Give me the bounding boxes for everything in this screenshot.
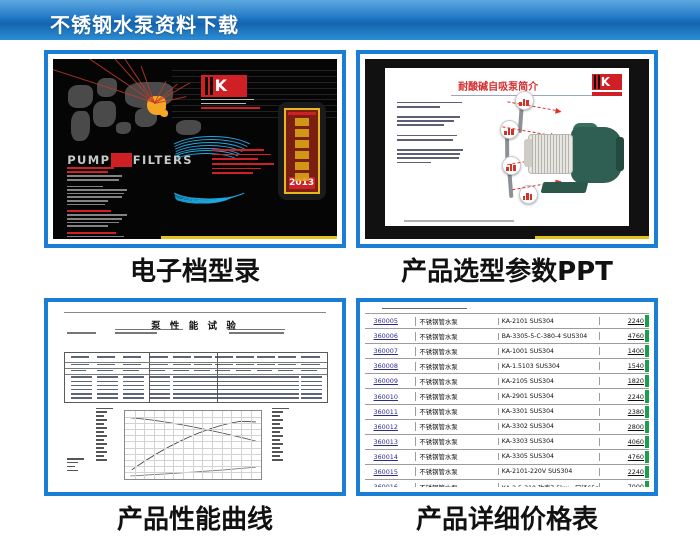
- card-performance-curve[interactable]: 泵 性 能 试 验: [40, 298, 350, 548]
- product-line: [212, 154, 271, 156]
- model-cell: KA-2.5-310 功率7.5kw、口径65mm: [498, 483, 599, 487]
- slogan-line: [201, 107, 260, 109]
- motor-fin: [541, 135, 542, 174]
- thumbnail-content: 泵 性 能 试 验: [53, 307, 337, 487]
- badge-glyph: [295, 129, 309, 137]
- grid-line: [125, 454, 261, 455]
- axis-tick: [96, 419, 107, 420]
- continent-shape: [176, 120, 201, 136]
- text-line: [397, 120, 454, 122]
- axis-tick: [272, 435, 283, 436]
- table-subheader-text: [71, 364, 89, 366]
- table-header-text: [278, 356, 296, 358]
- table-cell-text: [236, 389, 257, 391]
- text-line: [397, 116, 460, 118]
- table-row[interactable]: 360014不锈钢管水泵KA-3305 SUS3044760: [365, 450, 649, 465]
- page-root: 不锈钢水泵资料下载 PUMPKFILTERS: [0, 0, 700, 552]
- brand-text-left: PUMP: [67, 153, 110, 167]
- table-header-text: [149, 356, 167, 358]
- row-marker: [645, 406, 649, 418]
- doc-top-rule: [64, 312, 325, 313]
- table-row[interactable]: 360006不锈钢管水泵BA-3305-5-C-380-4 SUS3044760: [365, 329, 649, 344]
- doc-meta-left: [67, 332, 95, 336]
- text-line: [67, 218, 122, 220]
- china-highlight: [160, 110, 168, 118]
- table-unit-text: [215, 370, 231, 372]
- row-marker: [645, 360, 649, 372]
- price-cell: 4060: [599, 438, 649, 446]
- continent-shape: [116, 122, 132, 134]
- table-header-text: [123, 356, 141, 358]
- table-cell-text: [236, 376, 257, 378]
- table-header-text: [71, 356, 89, 358]
- ppt-slide-image: 耐酸碱自吸泵简介 K: [365, 59, 649, 239]
- price-table-image: 360005不锈钢管水泵KA-2101 SUS3042240360006不锈钢管…: [365, 307, 649, 487]
- row-marker: [645, 330, 649, 342]
- name-cell: 不锈钢管水泵: [415, 452, 497, 461]
- axis-tick: [96, 459, 107, 460]
- text-line: [397, 102, 461, 104]
- code-cell: 360012: [365, 423, 415, 431]
- badge-inner: 2013: [284, 108, 320, 194]
- table-row[interactable]: 360010不锈钢管水泵KA-2901 SUS3042240: [365, 389, 649, 404]
- grid-line: [154, 411, 155, 479]
- table-unit-text: [257, 370, 273, 372]
- table-unit-text: [71, 370, 87, 372]
- motor-fin: [565, 135, 566, 174]
- text-line: [67, 193, 124, 195]
- table-rule: [65, 368, 327, 369]
- table-cell-text: [71, 393, 92, 395]
- table-cell-text: [301, 376, 322, 378]
- table-cell-text: [149, 393, 170, 395]
- grid-line: [125, 448, 261, 449]
- wave-arc: [172, 188, 231, 204]
- table-cell-text: [301, 393, 322, 395]
- table-cell-text: [215, 385, 236, 387]
- text-line: [67, 210, 111, 212]
- table-subheader-text: [123, 364, 141, 366]
- table-cell-text: [215, 397, 236, 399]
- code-cell: 360010: [365, 393, 415, 401]
- model-cell: KA-2101-220V SUS304: [498, 468, 599, 475]
- table-cell-text: [97, 385, 118, 387]
- table-cell-text: [97, 381, 118, 383]
- table-clipped-header: [365, 307, 649, 314]
- thumbnail-grid: PUMPKFILTERS K 2: [0, 40, 700, 552]
- table-cell-text: [173, 389, 194, 391]
- meta-line: [115, 332, 156, 334]
- text-line: [67, 179, 119, 181]
- table-cell-text: [97, 376, 118, 378]
- price-cell: 2240: [599, 468, 649, 476]
- table-row[interactable]: 360013不锈钢管水泵KA-3303 SUS3044060: [365, 435, 649, 450]
- motor-fin: [538, 135, 539, 174]
- name-cell: 不锈钢管水泵: [415, 317, 497, 326]
- code-cell: 360014: [365, 453, 415, 461]
- grid-line: [125, 472, 261, 473]
- table-subheader-text: [173, 364, 191, 366]
- row-marker: [645, 345, 649, 357]
- axis-tick: [67, 462, 78, 463]
- table-cell-text: [173, 397, 194, 399]
- grid-line: [173, 411, 174, 479]
- table-header-text: [236, 356, 254, 358]
- grid-line: [125, 429, 261, 430]
- table-cell-text: [278, 381, 299, 383]
- price-cell: 2800: [599, 423, 649, 431]
- slide-canvas: 耐酸碱自吸泵简介 K: [385, 68, 629, 226]
- table-header-text: [215, 356, 233, 358]
- grid-line: [241, 411, 242, 479]
- table-cell-text: [97, 389, 118, 391]
- k-logo-letter: K: [215, 77, 227, 95]
- table-subheader-text: [236, 364, 254, 366]
- table-cell-text: [278, 393, 299, 395]
- bar-chart-icon: [504, 131, 507, 135]
- product-line: [212, 168, 261, 170]
- continent-shape: [93, 101, 115, 127]
- axis-tick: [96, 411, 107, 412]
- axis-label: [96, 408, 113, 409]
- grid-line: [135, 411, 136, 479]
- grid-line: [125, 435, 261, 436]
- card-caption: 产品性能曲线: [40, 506, 350, 535]
- table-subheader-text: [194, 364, 212, 366]
- row-marker: [645, 466, 649, 478]
- bar-chart-icon: [523, 196, 526, 200]
- axis-tick: [96, 443, 107, 444]
- slogan-line: [201, 99, 254, 101]
- product-list-lines: [212, 149, 286, 177]
- axis-tick: [96, 431, 104, 432]
- table-cell-text: [194, 385, 215, 387]
- row-marker: [645, 315, 649, 327]
- table-cell-text: [173, 385, 194, 387]
- table-subheader-text: [149, 364, 167, 366]
- text-line: [397, 124, 444, 126]
- row-marker: [645, 390, 649, 402]
- table-subheader-text: [278, 364, 296, 366]
- motor-fin: [547, 135, 548, 174]
- code-cell: 360013: [365, 438, 415, 446]
- table-cell-text: [236, 393, 257, 395]
- price-cell: 2380: [599, 408, 649, 416]
- model-cell: KA-3303 SUS304: [498, 438, 599, 445]
- table-cell-text: [215, 381, 236, 383]
- axis-tick: [272, 443, 283, 444]
- axis-tick: [96, 427, 107, 428]
- price-cell: 1540: [599, 362, 649, 370]
- table-cell-text: [278, 376, 299, 378]
- motor-fin: [550, 135, 551, 174]
- table-row[interactable]: 360008不锈钢管水泵KA-1.5103 SUS3041540: [365, 359, 649, 374]
- catalog-cover-image: PUMPKFILTERS K 2: [53, 59, 337, 239]
- code-cell: 360011: [365, 408, 415, 416]
- bar-chart-icon: [513, 165, 516, 171]
- card-caption: 产品详细价格表: [352, 506, 662, 535]
- axis-tick: [96, 447, 104, 448]
- meta-line: [229, 329, 285, 331]
- table-cell-text: [236, 397, 257, 399]
- name-cell: 不锈钢管水泵: [415, 362, 497, 371]
- table-cell-text: [149, 376, 170, 378]
- code-cell: 360005: [365, 317, 415, 325]
- table-cell-text: [257, 389, 278, 391]
- row-marker: [645, 421, 649, 433]
- code-cell: 360016: [365, 483, 415, 487]
- text-line: [397, 149, 463, 151]
- table-row[interactable]: 360011不锈钢管水泵KA-3301 SUS3042380: [365, 405, 649, 420]
- axis-tick: [96, 439, 104, 440]
- continent-shape: [71, 111, 90, 140]
- axis-left-scale: [96, 408, 116, 463]
- slide-yellow-bar: [535, 236, 649, 239]
- model-cell: KA-2101 SUS304: [498, 318, 599, 325]
- row-marker: [645, 436, 649, 448]
- axis-label: [67, 458, 84, 459]
- table-rule: [65, 362, 327, 363]
- text-line: [67, 225, 108, 227]
- doc-meta-right: [229, 329, 320, 337]
- motor-fin: [532, 135, 533, 174]
- table-cell-text: [173, 381, 194, 383]
- axis-tick: [272, 427, 283, 428]
- text-line: [397, 106, 439, 108]
- text-line: [397, 162, 431, 164]
- bar-chart-icon: [511, 129, 514, 135]
- table-cell-text: [123, 376, 144, 378]
- bar-chart-icon: [508, 128, 511, 135]
- card-caption: 电子档型录: [40, 258, 350, 287]
- table-row[interactable]: 360016不锈钢管水泵KA-2.5-310 功率7.5kw、口径65mm700…: [365, 480, 649, 487]
- text-line: [397, 153, 460, 155]
- table-cell-text: [123, 385, 144, 387]
- text-line: [67, 236, 124, 238]
- text-line: [67, 214, 127, 216]
- table-header-text: [194, 356, 212, 358]
- name-cell: 不锈钢管水泵: [415, 437, 497, 446]
- table-header-text: [97, 356, 115, 358]
- price-table-body: 360005不锈钢管水泵KA-2101 SUS3042240360006不锈钢管…: [365, 314, 649, 487]
- table-cell-text: [301, 381, 322, 383]
- table-cell-text: [278, 389, 299, 391]
- k-logo-letter: K: [601, 75, 610, 89]
- thumbnail-frame: 耐酸碱自吸泵简介 K: [356, 50, 658, 248]
- k-logo-subbar: [592, 92, 622, 96]
- axis-label: [272, 408, 289, 409]
- model-cell: KA-2105 SUS304: [498, 378, 599, 385]
- axis-tick: [272, 447, 280, 448]
- model-cell: KA-1001 SUS304: [498, 348, 599, 355]
- brand-k-mark: K: [111, 153, 131, 167]
- table-cell-text: [97, 397, 118, 399]
- slogan-line: [201, 103, 246, 105]
- table-subheader-text: [97, 364, 115, 366]
- price-cell: 2240: [599, 393, 649, 401]
- badge-glyph: [295, 162, 309, 170]
- price-cell: 7000: [599, 483, 649, 487]
- price-cell: 1400: [599, 347, 649, 355]
- table-cell-text: [149, 397, 170, 399]
- meta-line: [67, 332, 95, 334]
- table-cell-text: [278, 397, 299, 399]
- table-cell-text: [278, 385, 299, 387]
- text-line: [67, 200, 108, 202]
- table-subheader-text: [301, 364, 319, 366]
- product-line: [212, 163, 274, 165]
- price-cell: 4760: [599, 453, 649, 461]
- table-cell-text: [123, 393, 144, 395]
- table-cell-text: [97, 393, 118, 395]
- grid-line: [222, 411, 223, 479]
- axis-tick: [96, 455, 104, 456]
- table-unit-text: [194, 370, 210, 372]
- row-marker: [645, 481, 649, 487]
- text-line: [67, 167, 113, 169]
- card-electronic-catalog[interactable]: PUMPKFILTERS K 2: [40, 50, 350, 300]
- model-cell: KA-2901 SUS304: [498, 393, 599, 400]
- table-cell-text: [215, 376, 236, 378]
- axis-tick: [272, 423, 280, 424]
- table-unit-text: [97, 370, 113, 372]
- table-cell-text: [194, 376, 215, 378]
- text-line: [67, 186, 102, 188]
- name-cell: 不锈钢管水泵: [415, 467, 497, 476]
- badge-glyph: [295, 140, 309, 148]
- table-cell-text: [215, 389, 236, 391]
- bar-chart-icon: [526, 193, 529, 200]
- table-cell-text: [71, 381, 92, 383]
- page-title: 不锈钢水泵资料下载: [50, 9, 239, 38]
- bottom-yellow-bar: [161, 236, 337, 239]
- table-unit-text: [278, 370, 294, 372]
- chain-node-icon: [502, 156, 521, 175]
- card-product-ppt[interactable]: 耐酸碱自吸泵简介 K: [352, 50, 662, 300]
- table-row[interactable]: 360007不锈钢管水泵KA-1001 SUS3041400: [365, 344, 649, 359]
- text-line: [67, 171, 108, 173]
- code-cell: 360009: [365, 377, 415, 385]
- card-price-table[interactable]: 360005不锈钢管水泵KA-2101 SUS3042240360006不锈钢管…: [352, 298, 662, 548]
- motor-fin: [544, 135, 545, 174]
- motor-fin: [559, 135, 560, 174]
- axis-tick: [272, 451, 283, 452]
- grid-line: [125, 466, 261, 467]
- code-cell: 360015: [365, 468, 415, 476]
- table-cell-text: [301, 385, 322, 387]
- model-cell: BA-3305-5-C-380-4 SUS304: [498, 333, 599, 340]
- table-row[interactable]: 360005不锈钢管水泵KA-2101 SUS3042240: [365, 314, 649, 329]
- table-cell-text: [123, 389, 144, 391]
- motor-fin: [535, 135, 536, 174]
- model-cell: KA-3301 SUS304: [498, 408, 599, 415]
- text-line: [397, 139, 453, 141]
- pump-base: [540, 182, 588, 193]
- table-cell-text: [71, 376, 92, 378]
- page-header: 不锈钢水泵资料下载: [0, 0, 700, 40]
- table-cell-text: [236, 385, 257, 387]
- table-row[interactable]: 360012不锈钢管水泵KA-3302 SUS3042800: [365, 420, 649, 435]
- table-cell-text: [71, 397, 92, 399]
- name-cell: 不锈钢管水泵: [415, 347, 497, 356]
- table-row[interactable]: 360015不锈钢管水泵KA-2101-220V SUS3042240: [365, 465, 649, 480]
- grid-line: [125, 423, 261, 424]
- continent-shape: [68, 85, 93, 107]
- meta-line: [229, 332, 284, 334]
- performance-report-image: 泵 性 能 试 验: [53, 307, 337, 487]
- table-cell-text: [149, 381, 170, 383]
- table-cell-text: [71, 389, 92, 391]
- bar-chart-icon: [506, 167, 509, 171]
- motor-fin: [562, 135, 563, 174]
- name-cell: 不锈钢管水泵: [415, 422, 497, 431]
- table-cell-text: [301, 389, 322, 391]
- measurement-table: [64, 352, 328, 403]
- table-cell-text: [194, 397, 215, 399]
- table-cell-text: [71, 385, 92, 387]
- thumbnail-frame: 360005不锈钢管水泵KA-2101 SUS3042240360006不锈钢管…: [356, 298, 658, 496]
- bar-chart-icon: [510, 164, 513, 171]
- axis-tick: [96, 415, 104, 416]
- table-cell-text: [301, 397, 322, 399]
- table-cell-text: [194, 381, 215, 383]
- table-cell-text: [149, 389, 170, 391]
- table-unit-text: [149, 370, 165, 372]
- price-cell: 2240: [599, 317, 649, 325]
- table-header-text: [301, 356, 319, 358]
- text-line: [67, 222, 119, 224]
- name-cell: 不锈钢管水泵: [415, 377, 497, 386]
- table-cell-text: [173, 376, 194, 378]
- table-unit-text: [173, 370, 189, 372]
- grid-line: [144, 411, 145, 479]
- axis-tick: [96, 435, 107, 436]
- text-line: [67, 189, 127, 191]
- bar-chart-icon: [530, 194, 533, 200]
- grid-line: [125, 441, 261, 442]
- axis-tick: [272, 415, 280, 416]
- axis-tick: [67, 470, 78, 471]
- axis-tick: [272, 459, 283, 460]
- thumbnail-content: 360005不锈钢管水泵KA-2101 SUS3042240360006不锈钢管…: [365, 307, 649, 487]
- badge-glyph: [295, 118, 309, 126]
- table-cell-text: [194, 389, 215, 391]
- motor-fin: [553, 135, 554, 174]
- text-line: [67, 232, 116, 234]
- table-cell-text: [257, 385, 278, 387]
- row-marker: [645, 451, 649, 463]
- name-cell: 不锈钢管水泵: [415, 332, 497, 341]
- model-cell: KA-1.5103 SUS304: [498, 363, 599, 370]
- table-row[interactable]: 360009不锈钢管水泵KA-2105 SUS3041820: [365, 374, 649, 389]
- axis-tick: [67, 466, 75, 467]
- text-line: [397, 135, 457, 137]
- pump-motor: [528, 134, 573, 175]
- table-unit-text: [301, 370, 317, 372]
- row-marker: [645, 375, 649, 387]
- table-unit-text: [123, 370, 139, 372]
- table-cell-text: [257, 393, 278, 395]
- axis-tick: [272, 431, 280, 432]
- table-cell-text: [149, 385, 170, 387]
- slide-footer-line: [404, 220, 514, 222]
- axis-tick: [272, 411, 283, 412]
- price-cell: 1820: [599, 377, 649, 385]
- pump-body: [571, 127, 622, 183]
- table-cell-text: [257, 397, 278, 399]
- thumbnail-content: PUMPKFILTERS K 2: [53, 59, 337, 239]
- code-cell: 360006: [365, 332, 415, 340]
